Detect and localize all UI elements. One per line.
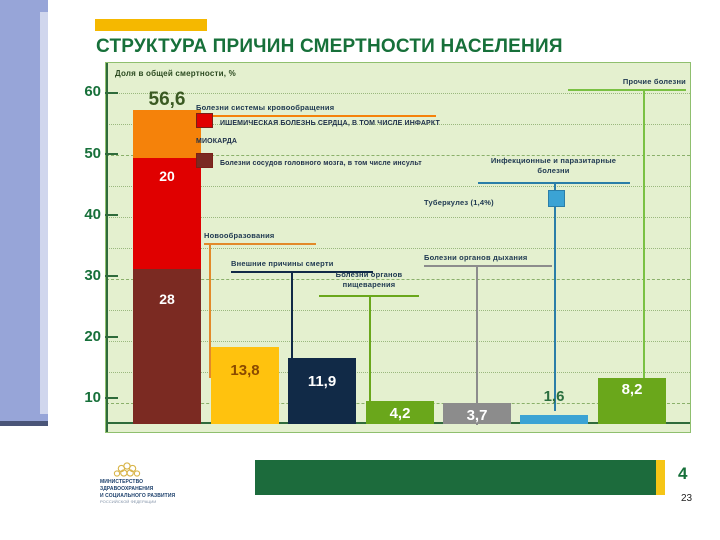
callout-other-stem: [643, 89, 645, 411]
callout-external-causes: Внешние причины смерти: [231, 259, 406, 269]
legend-item-ischemic: ИШЕМИЧЕСКАЯ БОЛЕЗНЬ СЕРДЦА, В ТОМ ЧИСЛЕ …: [196, 112, 441, 148]
callout-infectious-stem: [554, 182, 556, 411]
tuberculosis-annotation: Туберкулез (1,4%): [424, 192, 494, 210]
ministry-logo-text: МИНИСТЕРСТВО ЗДРАВООХРАНЕНИЯ И СОЦИАЛЬНО…: [100, 479, 225, 505]
tuberculosis-swatch-icon: [548, 190, 565, 207]
y-axis-caption: Доля в общей смертности, %: [115, 69, 236, 78]
legend-item-cerebrovascular: Болезни сосудов головного мозга, в том ч…: [196, 152, 441, 172]
bar-segment-cerebrovascular-label: 28: [133, 291, 201, 307]
callout-respiratory-stem: [476, 265, 478, 425]
y-axis-line: [106, 63, 108, 432]
ministry-logo-line3: И СОЦИАЛЬНОГО РАЗВИТИЯ: [100, 493, 225, 500]
ministry-logo-line1: МИНИСТЕРСТВО: [100, 479, 225, 486]
ministry-logo: МИНИСТЕРСТВО ЗДРАВООХРАНЕНИЯ И СОЦИАЛЬНО…: [100, 459, 225, 504]
bar-respiratory-label: 3,7: [417, 407, 537, 424]
callout-neoplasms-rule: [204, 243, 316, 245]
bar-segment-cerebrovascular: 28: [133, 269, 201, 424]
callout-respiratory: Болезни органов дыхания: [424, 253, 584, 263]
footer-bar: [255, 460, 665, 495]
bar-segment-ischemic: 20: [133, 158, 201, 269]
bar-segment-ischemic-label: 20: [133, 168, 201, 184]
y-tick-60: 60: [55, 83, 101, 100]
legend-swatch-cerebrovascular-icon: [196, 153, 213, 168]
legend-label-cerebrovascular: Болезни сосудов головного мозга, в том ч…: [220, 160, 422, 167]
legend-label-ischemic: ИШЕМИЧЕСКАЯ БОЛЕЗНЬ СЕРДЦА, В ТОМ ЧИСЛЕ …: [196, 120, 440, 145]
ministry-emblem-icon: [112, 459, 142, 479]
callout-neoplasms: Новообразования: [204, 231, 354, 241]
title-accent-bar: [95, 19, 207, 31]
slide-number: 4: [678, 464, 687, 484]
tuberculosis-label: Туберкулез (1,4%): [424, 198, 494, 207]
left-decor-foot: [0, 421, 48, 426]
y-tick-30: 30: [55, 267, 101, 284]
left-decor-highlight: [40, 12, 48, 414]
callout-infectious: Инфекционные и паразитарные болезни: [476, 156, 631, 176]
page-title: СТРУКТУРА ПРИЧИН СМЕРТНОСТИ НАСЕЛЕНИЯ: [96, 36, 696, 58]
callout-other-diseases: Прочие болезни: [506, 77, 686, 87]
callout-respiratory-rule: [424, 265, 552, 267]
ministry-logo-line4: РОССИЙСКОЙ ФЕДЕРАЦИИ: [100, 499, 225, 504]
legend-swatch-ischemic-icon: [196, 113, 213, 128]
footer-bar-accent: [656, 460, 665, 495]
bar-other-diseases-label: 8,2: [572, 381, 692, 398]
bar-infectious: [520, 415, 588, 424]
bar-segment-other-circulatory: [133, 110, 201, 158]
y-tick-20: 20: [55, 328, 101, 345]
callout-other-rule: [568, 89, 686, 91]
ministry-logo-line2: ЗДРАВООХРАНЕНИЯ: [100, 486, 225, 493]
y-tick-50: 50: [55, 145, 101, 162]
legend: ИШЕМИЧЕСКАЯ БОЛЕЗНЬ СЕРДЦА, В ТОМ ЧИСЛЕ …: [196, 112, 441, 176]
page-number: 23: [681, 493, 692, 504]
callout-digestive: Болезни органов пищеварения: [319, 270, 419, 290]
y-tick-40: 40: [55, 206, 101, 223]
bar-external-causes-label: 11,9: [262, 373, 382, 390]
left-decor-strip: [0, 0, 48, 426]
y-tick-10: 10: [55, 389, 101, 406]
